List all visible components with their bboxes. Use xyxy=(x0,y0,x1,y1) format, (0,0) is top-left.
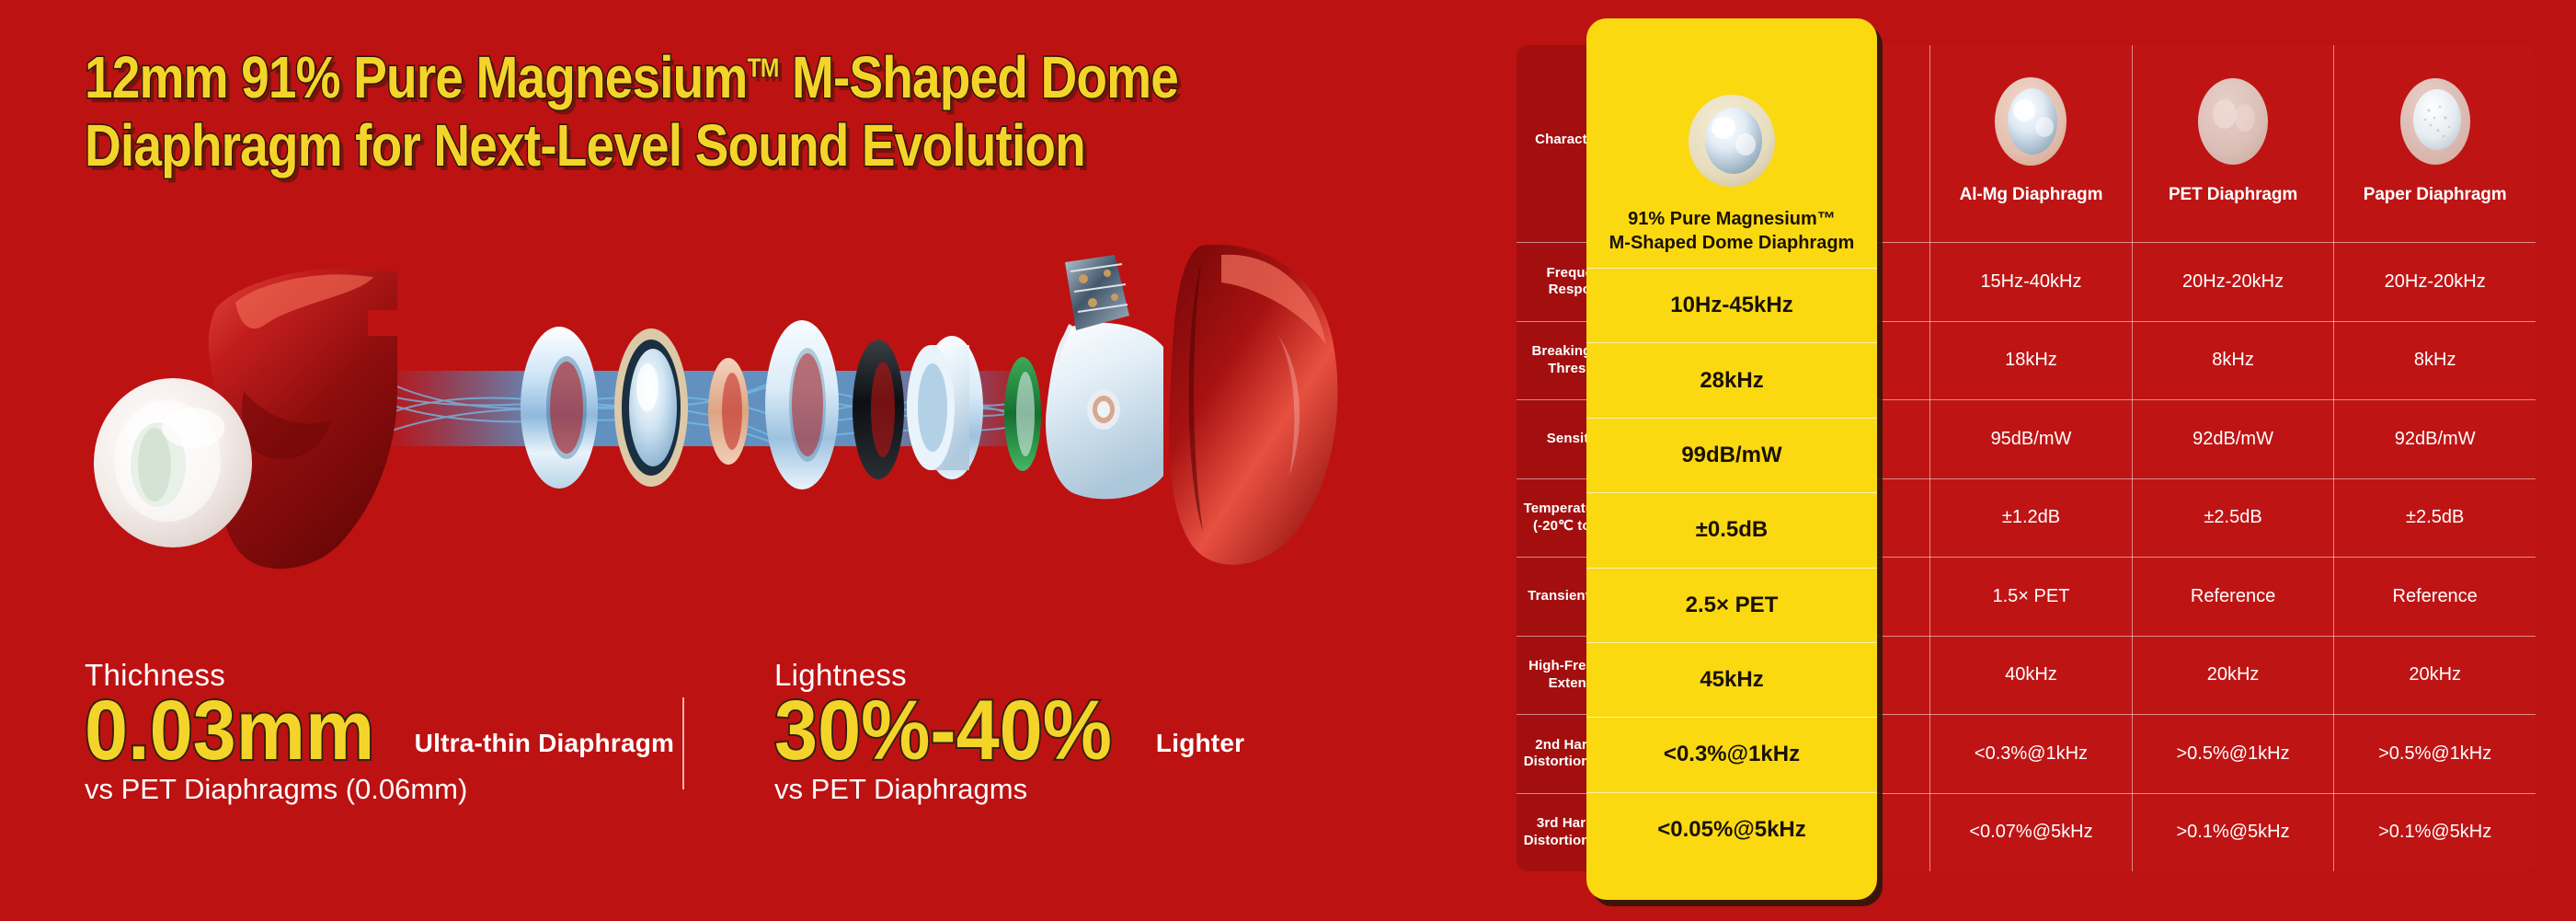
highlight-cell-transient-speed: 2.5× PET xyxy=(1586,568,1877,642)
cell-paper: 20Hz-20kHz xyxy=(2334,243,2536,322)
magnesium-dome-disc-svg xyxy=(1681,89,1782,192)
stat-lightness-value: 30%-40% xyxy=(774,691,1112,771)
cell-al-mg: 40kHz xyxy=(1930,636,2133,715)
highlight-column-content: 91% Pure Magnesium™ M-Shaped Dome Diaphr… xyxy=(1586,18,1877,900)
stat-lightness-suffix: Lighter xyxy=(1156,729,1244,771)
headline-line-1-pre: 12mm 91% Pure Magnesium xyxy=(85,44,747,110)
highlight-cell-high-frequency-extension: 45kHz xyxy=(1586,642,1877,717)
highlight-cell-3rd-harmonic-distortion: <0.05%@5kHz xyxy=(1586,792,1877,867)
stat-thickness: Thichness 0.03mm Ultra-thin Diaphragm vs… xyxy=(85,658,710,806)
cell-pet: Reference xyxy=(2132,558,2334,637)
paper-disc-icon xyxy=(2338,74,2532,169)
copper-ring xyxy=(708,358,749,465)
stat-thickness-sub: vs PET Diaphragms (0.06mm) xyxy=(85,773,710,806)
cell-pet: 20Hz-20kHz xyxy=(2132,243,2334,322)
highlight-column-title-line1: 91% Pure Magnesium™ xyxy=(1609,207,1855,231)
cell-pet: >0.5%@1kHz xyxy=(2132,715,2334,794)
left-panel: 12mm 91% Pure MagnesiumTM M-Shaped Dome … xyxy=(0,0,1508,921)
highlight-column-title: 91% Pure Magnesium™ M-Shaped Dome Diaphr… xyxy=(1609,207,1855,255)
cell-al-mg: 15Hz-40kHz xyxy=(1930,243,2133,322)
spacer-ring xyxy=(765,320,839,489)
header-paper: Paper Diaphragm xyxy=(2334,45,2536,243)
page-headline: 12mm 91% Pure MagnesiumTM M-Shaped Dome … xyxy=(85,44,1280,179)
cell-paper: 20kHz xyxy=(2334,636,2536,715)
pet-disc-svg xyxy=(2193,74,2273,169)
highlight-cell-2nd-harmonic-distortion: <0.3%@1kHz xyxy=(1586,717,1877,791)
highlight-cell-temperature-drift: ±0.5dB xyxy=(1586,492,1877,567)
green-pcb-ring xyxy=(1004,357,1041,471)
header-al-mg-label: Al-Mg Diaphragm xyxy=(1934,184,2128,206)
al-mg-disc-svg xyxy=(1991,74,2070,169)
ear-tip xyxy=(94,378,252,547)
illustration-svg xyxy=(55,207,1343,603)
highlight-cell-sensitivity: 99dB/mW xyxy=(1586,418,1877,492)
front-metal-ring xyxy=(521,327,598,489)
rear-driver-body xyxy=(1046,323,1163,500)
cell-paper: ±2.5dB xyxy=(2334,478,2536,558)
stats-divider xyxy=(682,697,684,789)
cell-pet: ±2.5dB xyxy=(2132,478,2334,558)
black-ring xyxy=(853,340,904,479)
pet-disc-icon xyxy=(2136,74,2330,169)
trademark-symbol: TM xyxy=(747,54,778,84)
cell-al-mg: <0.3%@1kHz xyxy=(1930,715,2133,794)
highlight-column-header: 91% Pure Magnesium™ M-Shaped Dome Diaphr… xyxy=(1586,44,1877,268)
stat-thickness-value: 0.03mm xyxy=(85,691,374,771)
cell-paper: >0.5%@1kHz xyxy=(2334,715,2536,794)
cell-pet: >0.1%@5kHz xyxy=(2132,793,2334,872)
header-paper-label: Paper Diaphragm xyxy=(2338,184,2532,206)
stat-thickness-suffix: Ultra-thin Diaphragm xyxy=(415,729,674,771)
headline-line-1-post: M-Shaped Dome xyxy=(779,44,1178,110)
cell-al-mg: 18kHz xyxy=(1930,321,2133,400)
header-al-mg: Al-Mg Diaphragm xyxy=(1930,45,2133,243)
cell-paper: >0.1%@5kHz xyxy=(2334,793,2536,872)
al-mg-disc-icon xyxy=(1934,74,2128,169)
cell-al-mg: ±1.2dB xyxy=(1930,478,2133,558)
cell-paper: Reference xyxy=(2334,558,2536,637)
exploded-earphone-driver-illustration xyxy=(55,207,1343,603)
stat-lightness: Lightness 30%-40% Lighter vs PET Diaphra… xyxy=(710,658,1354,806)
headline-line-2: Diaphragm for Next-Level Sound Evolution xyxy=(85,112,1113,180)
highlight-column-bottom-spacer xyxy=(1586,867,1877,900)
highlight-cell-breaking-mode-threshold: 28kHz xyxy=(1586,342,1877,417)
red-rear-shell xyxy=(1169,245,1338,565)
magnesium-diaphragm xyxy=(614,328,688,487)
cell-al-mg: 95dB/mW xyxy=(1930,400,2133,479)
header-pet: PET Diaphragm xyxy=(2132,45,2334,243)
header-pet-label: PET Diaphragm xyxy=(2136,184,2330,206)
headline-line-1: 12mm 91% Pure MagnesiumTM M-Shaped Dome xyxy=(85,44,1113,112)
cell-pet: 92dB/mW xyxy=(2132,400,2334,479)
cell-al-mg: 1.5× PET xyxy=(1930,558,2133,637)
cell-paper: 92dB/mW xyxy=(2334,400,2536,479)
stat-lightness-sub: vs PET Diaphragms xyxy=(774,773,1354,806)
cell-paper: 8kHz xyxy=(2334,321,2536,400)
paper-disc-svg xyxy=(2396,74,2475,169)
magnet-assembly xyxy=(907,336,983,479)
stats-row: Thichness 0.03mm Ultra-thin Diaphragm vs… xyxy=(85,658,1409,842)
highlight-column-title-line2: M-Shaped Dome Diaphragm xyxy=(1609,231,1855,255)
highlight-cell-frequency-response: 10Hz-45kHz xyxy=(1586,268,1877,342)
cell-al-mg: <0.07%@5kHz xyxy=(1930,793,2133,872)
cell-pet: 20kHz xyxy=(2132,636,2334,715)
infographic-page: 12mm 91% Pure MagnesiumTM M-Shaped Dome … xyxy=(0,0,2576,921)
cell-pet: 8kHz xyxy=(2132,321,2334,400)
magnesium-dome-disc-icon xyxy=(1681,89,1782,192)
